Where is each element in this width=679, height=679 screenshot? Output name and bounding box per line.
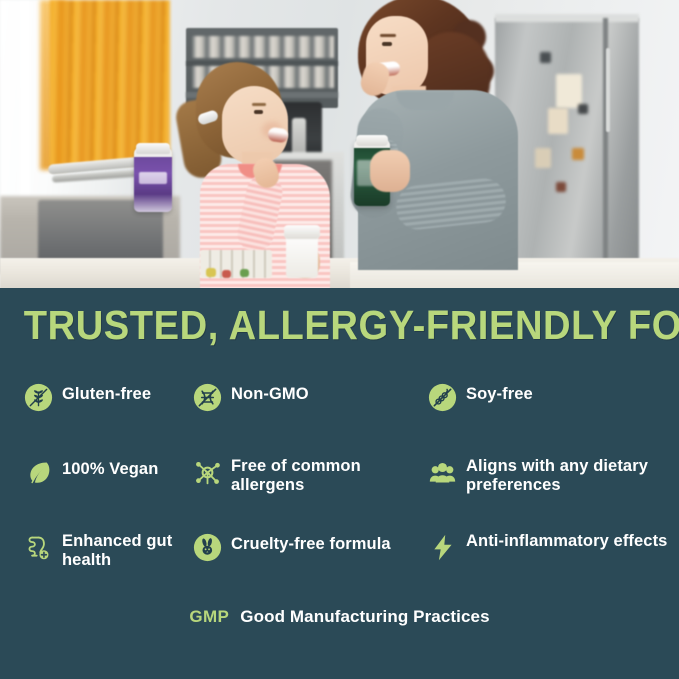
green-bottle-cap — [356, 135, 388, 146]
gummy-pill — [206, 268, 216, 277]
feature-label: Anti-inflammatory effects — [466, 531, 667, 551]
gmp-badge: GMP — [189, 607, 229, 627]
feature-label: Cruelty-free formula — [231, 531, 391, 554]
feature-label: Gluten-free — [62, 381, 151, 404]
feature-label: Free of common allergens — [231, 456, 428, 494]
woman-hand-holding-bottle — [370, 150, 410, 192]
purple-bottle-cap — [136, 143, 170, 154]
feature-gut-health: Enhanced gut health — [0, 531, 193, 569]
feature-label: Non-GMO — [231, 381, 309, 404]
features-grid: Gluten-free Non-GMO — [0, 381, 679, 606]
feature-label: Enhanced gut health — [62, 531, 193, 569]
white-bottle-cap — [284, 225, 320, 239]
fridge-magnet-3 — [572, 148, 584, 160]
girl-eye — [254, 110, 263, 114]
product-feature-banner: TRUSTED, ALLERGY-FRIENDLY FORMULA — [0, 0, 679, 679]
intestine-plus-icon — [24, 533, 53, 562]
feature-non-gmo: Non-GMO — [193, 381, 428, 412]
gmp-text: Good Manufacturing Practices — [240, 607, 489, 627]
dna-crossed-out-icon — [193, 383, 222, 412]
feature-label: 100% Vegan — [62, 456, 158, 479]
allergen-burst-icon — [193, 458, 222, 487]
woman-sweater-collar — [396, 92, 454, 110]
rabbit-icon — [193, 533, 222, 562]
woman-figure — [340, 0, 570, 289]
panel-headline: TRUSTED, ALLERGY-FRIENDLY FORMULA — [24, 305, 655, 346]
lightning-bolt-icon — [428, 533, 457, 562]
feature-anti-inflammatory: Anti-inflammatory effects — [428, 531, 679, 562]
gummy-pill-3 — [240, 269, 249, 277]
shelf-items-top — [192, 36, 334, 58]
feature-gluten-free: Gluten-free — [0, 381, 193, 412]
features-row: 100% Vegan — [0, 456, 679, 531]
lifestyle-photo — [0, 0, 679, 289]
features-row: Gluten-free Non-GMO — [0, 381, 679, 456]
wheat-crossed-out-icon — [24, 383, 53, 412]
girl-eyebrow — [252, 103, 266, 106]
purple-bottle-label — [139, 172, 167, 184]
feature-soy-free: Soy-free — [428, 381, 679, 412]
feature-dietary-preferences: Aligns with any dietary preferences — [428, 456, 679, 494]
features-row: Enhanced gut health Cruelt — [0, 531, 679, 606]
gummy-pill-2 — [222, 270, 231, 278]
feature-label: Soy-free — [466, 381, 533, 404]
people-group-icon — [428, 458, 457, 487]
soybean-crossed-out-icon — [428, 383, 457, 412]
feature-vegan: 100% Vegan — [0, 456, 193, 487]
feature-free-of-allergens: Free of common allergens — [193, 456, 428, 494]
woman-eye — [382, 42, 392, 46]
feature-cruelty-free: Cruelty-free formula — [193, 531, 428, 562]
fridge-magnet-2 — [578, 104, 588, 114]
gmp-footer: GMP Good Manufacturing Practices — [0, 607, 679, 627]
feature-label: Aligns with any dietary preferences — [466, 456, 679, 494]
refrigerator-handle — [606, 48, 610, 132]
woman-eyebrow — [380, 34, 396, 37]
features-panel: TRUSTED, ALLERGY-FRIENDLY FORMULA — [0, 288, 679, 679]
leaf-icon — [24, 458, 53, 487]
